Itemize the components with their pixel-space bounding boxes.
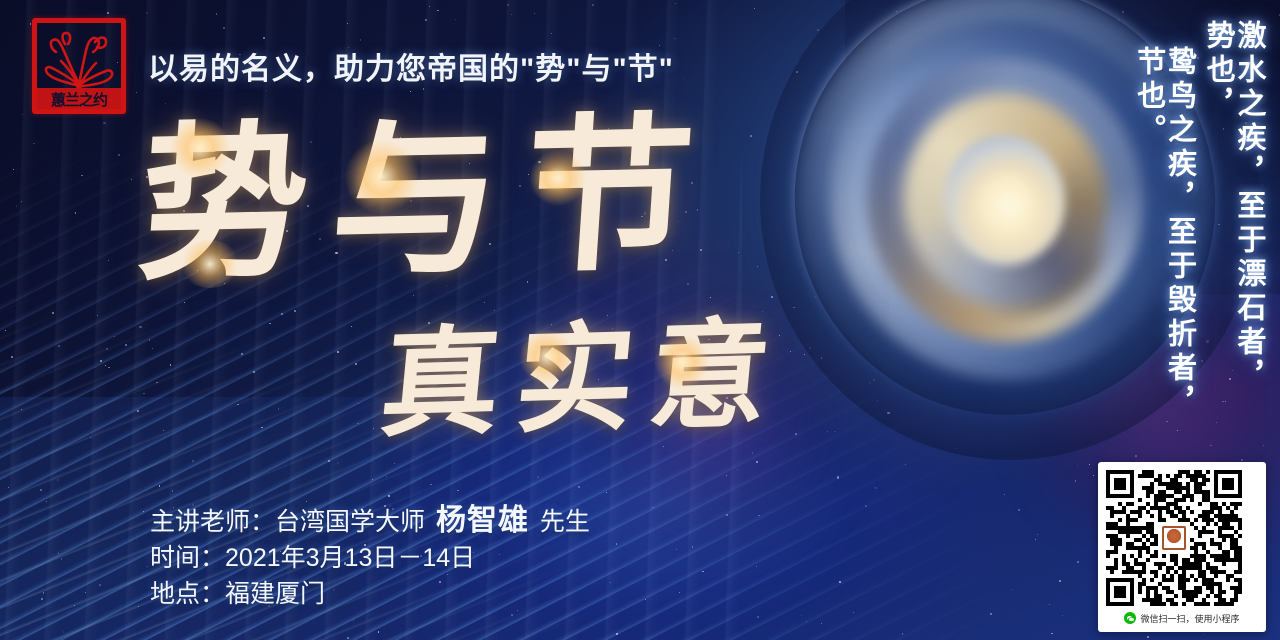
quote-column-left: 鸷鸟之疾，至于毁折者，节也。 [1133,46,1194,426]
speaker-label: 主讲老师： [150,508,275,536]
event-poster: 蕙兰之约 以易的名义，助力您帝国的"势"与"节" 势与节 真实意 主讲老师：台湾… [0,0,1280,640]
speaker-name: 杨智雄 [432,504,533,537]
qr-caption: 微信扫一扫，使用小程序 [1106,608,1258,628]
date-label: 时间： [150,544,225,572]
seal-logo: 蕙兰之约 [32,18,126,114]
title-line-1: 势与节 [134,112,722,292]
location-label: 地点： [150,580,225,608]
title-line-2: 真实意 [376,316,790,445]
qr-caption-text: 微信扫一扫，使用小程序 [1140,612,1239,625]
info-line-location: 地点：福建厦门 [150,576,590,612]
qr-center-logo [1159,523,1189,553]
page-tagline: 以易的名义，助力您帝国的"势"与"节" [148,44,674,88]
quote-column-right: 激水之疾，至于漂石者，势也， [1203,20,1264,426]
info-line-date: 时间：2021年3月13日－14日 [150,540,590,576]
speaker-prefix: 台湾国学大师 [275,508,432,536]
seal-characters: 蕙兰之约 [36,88,122,110]
date-value: 2021年3月13日－14日 [225,544,475,572]
event-details: 主讲老师：台湾国学大师 杨智雄 先生 时间：2021年3月13日－14日 地点：… [150,503,590,612]
location-value: 福建厦门 [225,580,325,608]
wechat-icon [1124,612,1136,624]
vertical-quote: 激水之疾，至于漂石者，势也， 鸷鸟之疾，至于毁折者，节也。 [1133,20,1264,426]
info-line-speaker: 主讲老师：台湾国学大师 杨智雄 先生 [150,503,590,540]
qr-code-image[interactable] [1106,470,1242,606]
qr-code-panel[interactable]: 微信扫一扫，使用小程序 [1098,462,1266,632]
speaker-suffix: 先生 [533,508,590,536]
